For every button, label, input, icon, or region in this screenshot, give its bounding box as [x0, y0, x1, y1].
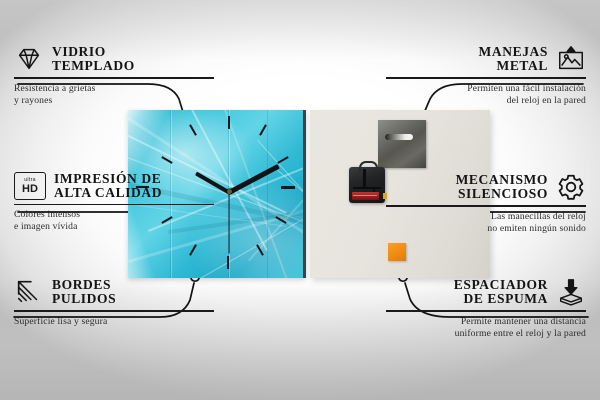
- feature-rule: [386, 77, 586, 79]
- feature-rule: [386, 205, 586, 207]
- gear-icon: [556, 172, 586, 202]
- foam-spacer: [388, 243, 406, 261]
- feature-rule: [14, 310, 214, 312]
- feature-title-line1: BORDES: [52, 278, 111, 292]
- ultra-hd-icon-main-text: HD: [22, 184, 38, 195]
- feature-description: Permiten una fácil instalación del reloj…: [386, 83, 586, 107]
- feature-title-line2: PULIDOS: [52, 292, 116, 306]
- feature-desc-line1: Resistencia a grietas: [14, 83, 214, 95]
- feature-desc-line1: Superficie lisa y segura: [14, 316, 214, 328]
- infographic-canvas: VIDRIO TEMPLADO Resistencia a grietas y …: [0, 0, 600, 400]
- feature-desc-line2: del reloj en la pared: [386, 95, 586, 107]
- feature-rule: [386, 310, 586, 312]
- feature-desc-line1: Las manecillas del reloj: [386, 211, 586, 223]
- feature-title-line2: ALTA CALIDAD: [54, 186, 162, 200]
- feature-impresion-alta-calidad: ultra HD IMPRESIÓN DE ALTA CALIDAD Color…: [14, 172, 214, 233]
- feature-mecanismo-silencioso: MECANISMO SILENCIOSO Las manecillas del …: [386, 172, 586, 235]
- picture-frame-hanger-icon: [556, 44, 586, 74]
- feature-title-line1: ESPACIADOR: [454, 278, 548, 292]
- feature-bordes-pulidos: BORDES PULIDOS Superficie lisa y segura: [14, 277, 214, 328]
- clock-battery: [352, 192, 379, 200]
- feature-manejas-metal: MANEJAS METAL Permiten una fácil instala…: [386, 44, 586, 107]
- feature-rule: [14, 204, 214, 206]
- feature-espaciador-espuma: ESPACIADOR DE ESPUMA Permite mantener un…: [386, 277, 586, 340]
- feature-vidrio-templado: VIDRIO TEMPLADO Resistencia a grietas y …: [14, 44, 214, 107]
- feature-description: Superficie lisa y segura: [14, 316, 214, 328]
- feature-description: Permite mantener una distancia uniforme …: [386, 316, 586, 340]
- arrow-into-layer-icon: [556, 277, 586, 307]
- feature-desc-line2: e imagen vívida: [14, 221, 214, 233]
- feature-description: Las manecillas del reloj no emiten ningú…: [386, 211, 586, 235]
- feature-desc-line2: no emiten ningún sonido: [386, 223, 586, 235]
- feature-title-line2: TEMPLADO: [52, 59, 135, 73]
- feature-description: Resistencia a grietas y rayones: [14, 83, 214, 107]
- feature-title-line1: MANEJAS: [479, 45, 548, 59]
- clock-center-hub: [227, 189, 232, 194]
- feature-title-line2: METAL: [496, 59, 548, 73]
- feature-desc-line1: Permite mantener una distancia: [386, 316, 586, 328]
- feature-description: Colores intensos e imagen vívida: [14, 209, 214, 233]
- feature-desc-line1: Permiten una fácil instalación: [386, 83, 586, 95]
- diamond-icon: [14, 44, 44, 74]
- feature-rule: [14, 77, 214, 79]
- metal-hanger-plate: [378, 120, 426, 168]
- clock-mechanism-box: [349, 167, 385, 203]
- feature-title-line2: DE ESPUMA: [463, 292, 548, 306]
- feature-title-line1: IMPRESIÓN DE: [54, 172, 161, 186]
- feature-desc-line2: uniforme entre el reloj y la pared: [386, 328, 586, 340]
- feature-title-line1: MECANISMO: [456, 173, 548, 187]
- feature-desc-line1: Colores intensos: [14, 209, 214, 221]
- feature-title-line1: VIDRIO: [52, 45, 106, 59]
- ultra-hd-icon: ultra HD: [14, 172, 46, 200]
- feature-desc-line2: y rayones: [14, 95, 214, 107]
- polished-edges-icon: [14, 277, 44, 307]
- feature-title-line2: SILENCIOSO: [458, 187, 548, 201]
